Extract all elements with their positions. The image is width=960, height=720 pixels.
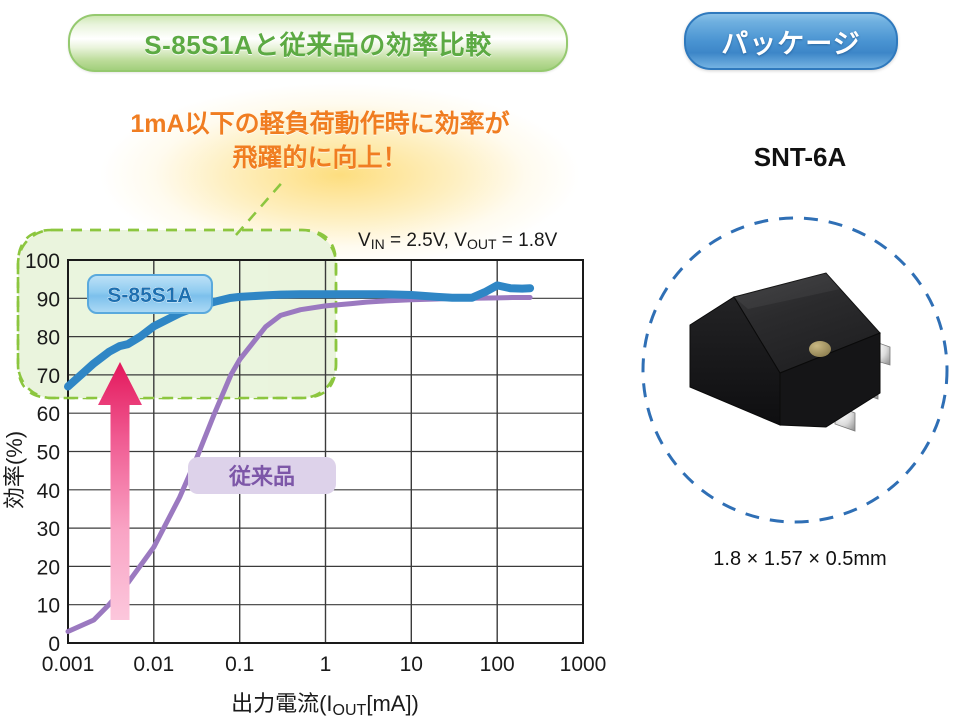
- headline-line-1: 1mA以下の軽負荷動作時に効率が: [60, 108, 580, 142]
- y-tick: 70: [37, 365, 60, 388]
- package-photo-svg: [630, 205, 960, 535]
- package-name: SNT-6A: [660, 142, 940, 173]
- x-tick: 1: [320, 653, 332, 676]
- y-axis-label: 効率(%): [2, 431, 27, 509]
- ic-package: [690, 273, 890, 431]
- y-tick: 50: [37, 442, 60, 465]
- package-banner-label: パッケージ: [721, 22, 860, 61]
- x-tick: 10: [400, 653, 423, 676]
- title-banner-label: S-85S1Aと従来品の効率比較: [144, 25, 492, 62]
- x-tick: 0.01: [133, 653, 174, 676]
- y-tick: 100: [25, 250, 60, 273]
- headline: 1mA以下の軽負荷動作時に効率が 飛躍的に向上！: [60, 108, 580, 176]
- y-tick: 80: [37, 327, 60, 350]
- x-axis-label: 出力電流(IOUT[mA]): [231, 691, 419, 719]
- headline-line-2: 飛躍的に向上！: [60, 142, 580, 176]
- x-tick: 1000: [560, 653, 607, 676]
- package-banner: パッケージ: [684, 12, 898, 70]
- y-tick: 40: [37, 480, 60, 503]
- package-photo-panel: [630, 205, 960, 535]
- series-label-conventional: 従来品: [188, 457, 336, 494]
- y-tick: 20: [37, 556, 60, 579]
- x-tick: 0.001: [42, 653, 95, 676]
- x-tick: 100: [480, 653, 515, 676]
- x-tick: 0.1: [225, 653, 254, 676]
- chart-svg: S-85S1A 従来品 VIN = 2.5V, VOUT = 1.8V 100 …: [0, 180, 620, 720]
- improvement-arrow: [98, 362, 142, 620]
- condition-annotation: VIN = 2.5V, VOUT = 1.8V: [358, 230, 558, 252]
- y-tick: 90: [37, 288, 60, 311]
- efficiency-chart: S-85S1A 従来品 VIN = 2.5V, VOUT = 1.8V 100 …: [0, 180, 620, 720]
- series-label-s85s1a-text: S-85S1A: [107, 284, 192, 307]
- index-dot: [809, 341, 831, 357]
- series-label-s85s1a: S-85S1A: [88, 275, 212, 313]
- y-tick: 60: [37, 403, 60, 426]
- y-tick: 10: [37, 595, 60, 618]
- series-label-conventional-text: 従来品: [228, 464, 295, 489]
- y-tick: 30: [37, 518, 60, 541]
- x-axis-ticks: 0.001 0.01 0.1 1 10 100 1000: [42, 653, 607, 676]
- title-banner: S-85S1Aと従来品の効率比較: [68, 14, 568, 72]
- package-dimensions: 1.8 × 1.57 × 0.5mm: [660, 548, 940, 571]
